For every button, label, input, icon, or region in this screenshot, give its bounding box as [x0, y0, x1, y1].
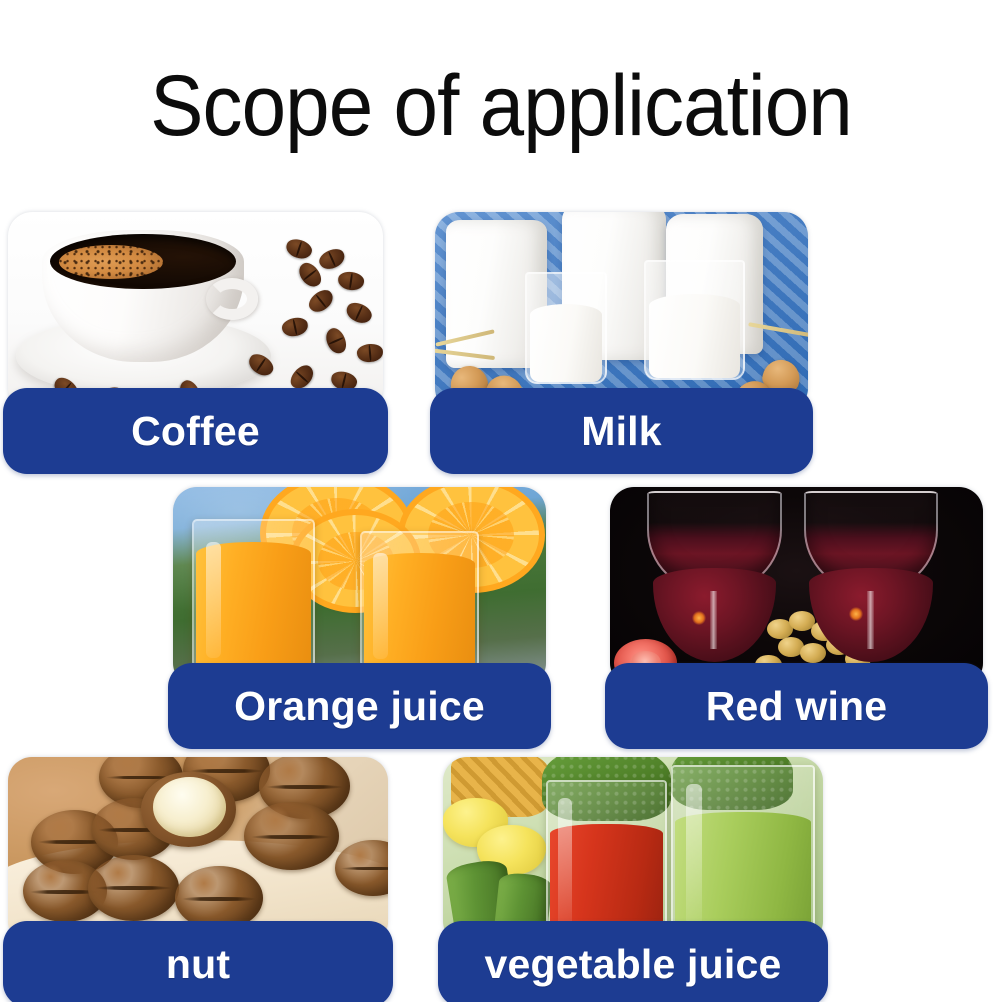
macadamia-nut [88, 855, 179, 921]
nut-photo [8, 757, 388, 945]
card-label-vegetable-juice[interactable]: vegetable juice [438, 921, 828, 1002]
card-label-text: Coffee [131, 409, 260, 453]
application-card-coffee[interactable]: Coffee [3, 212, 388, 474]
card-label-orange-juice[interactable]: Orange juice [168, 663, 551, 749]
milk-glass-right [644, 260, 745, 380]
application-card-vegetable-juice[interactable]: vegetable juice [438, 757, 828, 1002]
orange-juice-scene [173, 487, 546, 687]
milk-scene [435, 212, 808, 412]
application-card-milk[interactable]: Milk [430, 212, 813, 474]
card-label-text: Milk [581, 409, 662, 453]
card-label-text: Red wine [706, 684, 888, 728]
application-card-red-wine[interactable]: Red wine [605, 487, 988, 749]
card-label-text: nut [166, 942, 230, 986]
orange-juice-glass-left [192, 519, 315, 675]
coffee-scene [8, 212, 383, 412]
coffee-bean [283, 236, 314, 261]
orange-juice-glass-right [360, 531, 479, 675]
coffee-bean [323, 325, 350, 356]
coffee-bean [343, 299, 374, 326]
milk-photo [435, 212, 808, 412]
wine-glass-left [647, 491, 781, 667]
card-label-text: Orange juice [234, 684, 485, 728]
coffee-bean [317, 245, 348, 272]
crema-foam-shape [59, 245, 163, 279]
macadamia-kernel [153, 777, 225, 837]
coffee-bean [356, 343, 383, 363]
coffee-surface-shape [50, 234, 236, 289]
card-label-nut[interactable]: nut [3, 921, 393, 1002]
card-label-milk[interactable]: Milk [430, 388, 813, 474]
red-wine-photo [610, 487, 983, 687]
wine-glass-stem [867, 591, 874, 649]
green-juice-glass [671, 765, 815, 945]
nut-scene [8, 757, 388, 945]
coffee-bean [305, 286, 337, 316]
card-label-text: vegetable juice [485, 942, 782, 986]
macadamia-nut [244, 802, 339, 870]
wine-glass-stem [710, 591, 717, 649]
coffee-photo [8, 212, 383, 412]
vegetable-juice-photo [443, 757, 823, 945]
macadamia-nut-cracked [141, 772, 236, 847]
glass-sheen [558, 798, 572, 927]
red-wine-scene [610, 487, 983, 687]
wine-glass-right [804, 491, 938, 667]
vegetable-juice-scene [443, 757, 823, 945]
application-card-nut[interactable]: nut [3, 757, 393, 1002]
coffee-bean [337, 270, 365, 291]
application-card-orange-juice[interactable]: Orange juice [168, 487, 551, 749]
coffee-bean [280, 315, 309, 338]
milk-glass-front [525, 272, 607, 384]
card-label-red-wine[interactable]: Red wine [605, 663, 988, 749]
glass-sheen [686, 784, 703, 925]
orange-juice-photo [173, 487, 546, 687]
cup-handle-shape [206, 278, 259, 320]
wine-highlight-spark [692, 611, 706, 625]
card-label-coffee[interactable]: Coffee [3, 388, 388, 474]
application-scope-grid: Coffee Milk [0, 0, 1002, 1002]
wine-highlight-spark [849, 607, 863, 621]
